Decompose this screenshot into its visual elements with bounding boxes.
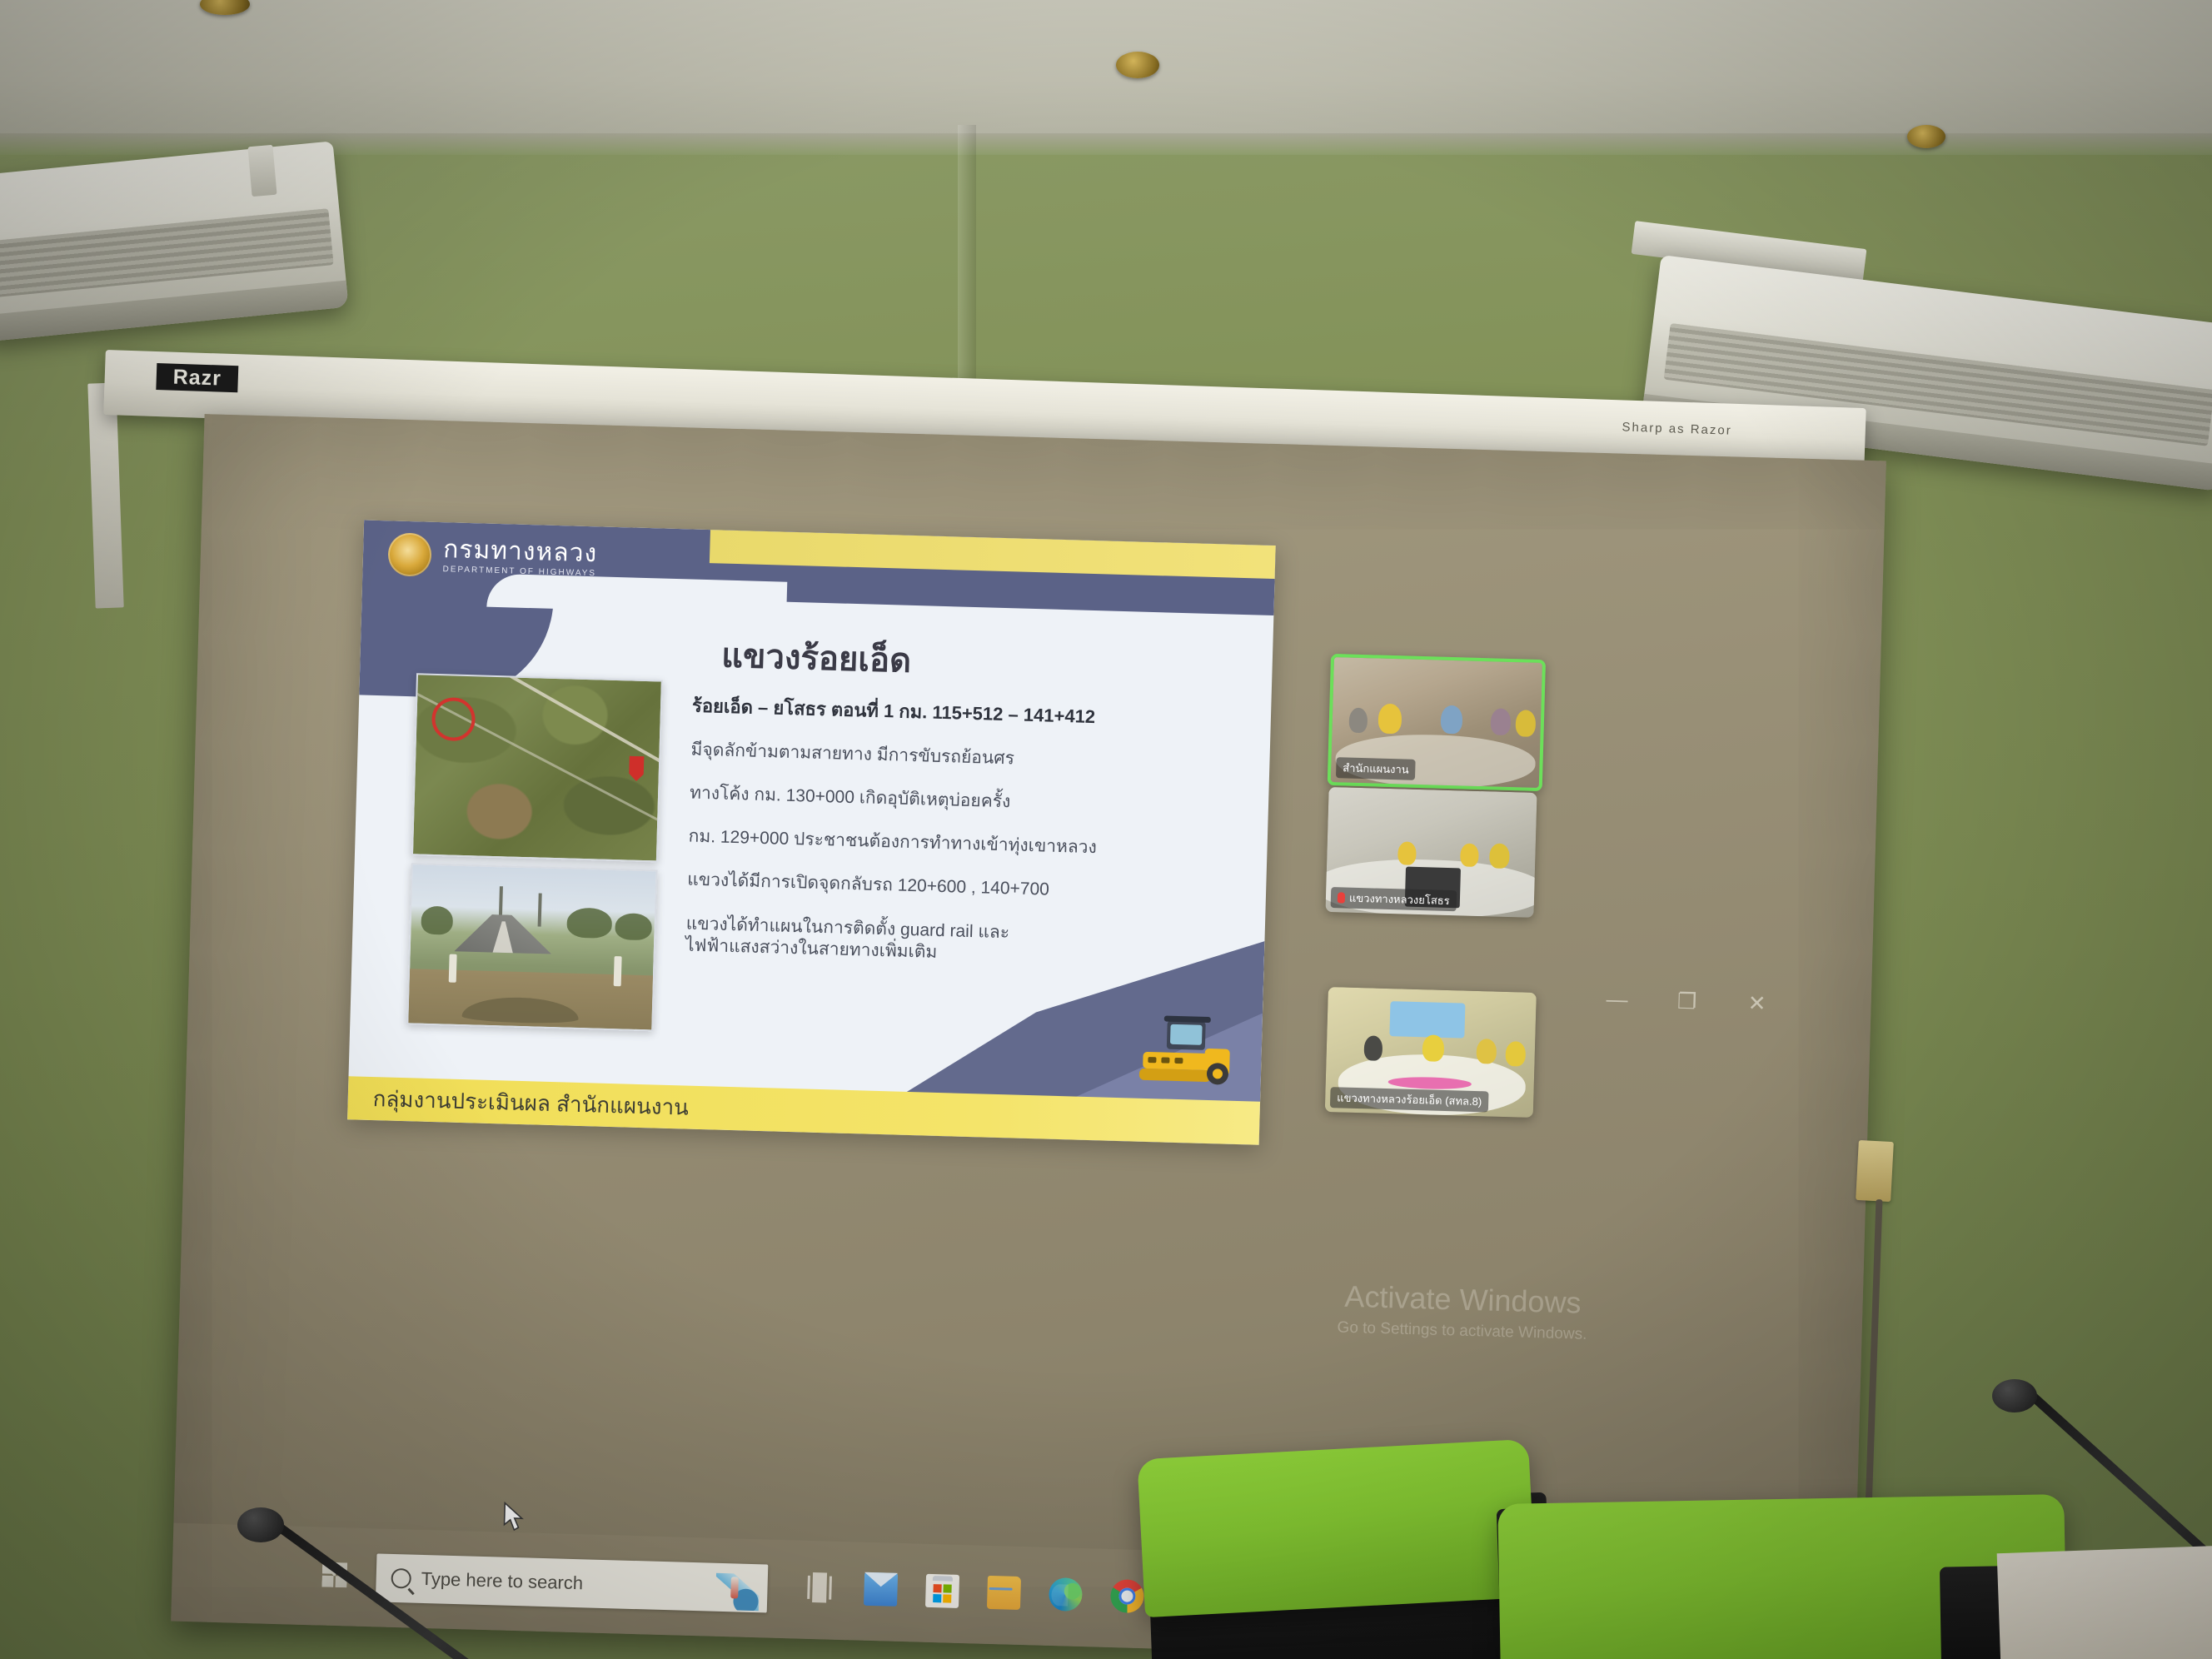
microsoft-store-icon[interactable]: [925, 1574, 959, 1608]
desk-microphone-left: [237, 1499, 487, 1659]
screen-brand-logo: Razr: [156, 363, 238, 392]
activate-windows-watermark: Activate Windows Go to Settings to activ…: [1245, 1276, 1680, 1346]
participant-silhouette: [1460, 843, 1479, 867]
satellite-map-photo: [411, 673, 663, 862]
body-line: แขวงได้ทำแผนในการติดตั้ง guard rail และ …: [685, 913, 1219, 971]
body-line: ทางโค้ง กม. 130+000 เกิดอุบัติเหตุบ่อยคร…: [690, 782, 1223, 819]
projected-desktop: — ❐ ✕ กรมทางหลวง DEPARTMENT OF HIGHWAYS: [171, 414, 1886, 1659]
roadway-site-photo: [406, 863, 657, 1031]
video-participant-panel: สำนักแผนงาน แขวงทางหลวงยโส: [1315, 654, 1547, 1243]
ocean-wave-icon: [715, 1573, 760, 1611]
projection-screen-surface: — ❐ ✕ กรมทางหลวง DEPARTMENT OF HIGHWAYS: [171, 414, 1886, 1659]
presentation-slide[interactable]: กรมทางหลวง DEPARTMENT OF HIGHWAYS แขวงร้…: [347, 520, 1276, 1144]
logo-english-text: DEPARTMENT OF HIGHWAYS: [442, 565, 596, 578]
wall-seam: [958, 125, 976, 400]
air-conditioner-left: [0, 141, 349, 341]
ac-grille: [0, 208, 333, 297]
guard-post: [614, 956, 622, 986]
ac-bracket: [247, 145, 276, 197]
edge-icon[interactable]: [1049, 1577, 1083, 1612]
logo-thai-text: กรมทางหลวง: [443, 537, 598, 566]
slide-footer-text: กลุ่มงานประเมินผล สำนักแผนงาน: [372, 1082, 689, 1125]
foreground-table: [1997, 1545, 2212, 1659]
mouse-cursor: [502, 1502, 525, 1534]
video-tile-label: แขวงทางหลวงร้อยเอ็ด (สทล.8): [1330, 1087, 1489, 1112]
watermark-title: Activate Windows: [1246, 1276, 1680, 1323]
department-logo: กรมทางหลวง DEPARTMENT OF HIGHWAYS: [387, 532, 597, 581]
body-line: มีจุดลักข้ามตามสายทาง มีการขับรถย้อนศร: [690, 739, 1223, 775]
window-controls[interactable]: — ❐ ✕: [1604, 986, 1770, 1017]
backdrop-banner: [1389, 1001, 1465, 1038]
mic-capsule: [237, 1507, 284, 1542]
slide-body-text: ร้อยเอ็ด – ยโสธร ตอนที่ 1 กม. 115+512 – …: [685, 695, 1225, 994]
room-ceiling: [0, 0, 2212, 146]
participant-silhouette: [1490, 708, 1511, 735]
department-seal-icon: [387, 532, 431, 576]
minimize-button[interactable]: —: [1604, 986, 1630, 1013]
chair-back-left: [1137, 1439, 1536, 1617]
video-tile-label: สำนักแผนงาน: [1336, 757, 1416, 780]
task-view-icon[interactable]: [802, 1571, 836, 1605]
participant-silhouette: [1515, 710, 1536, 737]
ceiling-light-fixture: [1907, 125, 1945, 148]
body-line: ร้อยเอ็ด – ยโสธร ตอนที่ 1 กม. 115+512 – …: [692, 695, 1226, 732]
utility-pole: [537, 894, 541, 927]
road-roller-icon: [1131, 1009, 1242, 1089]
file-explorer-icon[interactable]: [987, 1576, 1021, 1610]
participant-silhouette: [1489, 843, 1510, 869]
participant-silhouette: [1441, 705, 1463, 735]
restore-button[interactable]: ❐: [1674, 989, 1700, 1015]
mail-icon[interactable]: [864, 1572, 898, 1607]
participant-silhouette: [1505, 1041, 1526, 1067]
ceiling-light-fixture: [1116, 52, 1159, 78]
video-tile-label: แขวงทางหลวงยโสธร: [1331, 887, 1457, 911]
body-line: กม. 129+000 ประชาชนต้องการทำทางเข้าทุ่งเ…: [688, 826, 1221, 863]
screen-tagline: Sharp as Razor: [1622, 420, 1732, 437]
participant-silhouette: [1397, 841, 1417, 865]
guard-post: [448, 954, 456, 983]
chrome-icon[interactable]: [1110, 1579, 1144, 1613]
mic-muted-icon: [1338, 892, 1345, 903]
map-highlight-circle: [431, 697, 475, 741]
screenshot-root: Razr Sharp as Razor — ❐ ✕ กรมทางหลวง: [0, 0, 2212, 1659]
body-line: แขวงได้มีการเปิดจุดกลับรถ 120+600 , 140+…: [687, 869, 1220, 906]
video-tile-3[interactable]: แขวงทางหลวงร้อยเอ็ด (สทล.8): [1325, 987, 1537, 1118]
participant-silhouette: [1422, 1034, 1445, 1062]
roadside-tree: [421, 906, 453, 935]
close-button[interactable]: ✕: [1744, 990, 1770, 1017]
video-tile-2[interactable]: แขวงทางหลวงยโสธร: [1325, 787, 1537, 918]
map-marker-icon: [629, 756, 645, 781]
participant-silhouette: [1476, 1039, 1497, 1064]
participant-silhouette: [1348, 708, 1368, 734]
video-tile-1[interactable]: สำนักแผนงาน: [1328, 654, 1546, 791]
participant-silhouette: [1364, 1035, 1383, 1061]
roadside-tree: [615, 913, 652, 940]
wall-outlet-plate: [1856, 1140, 1894, 1202]
mic-capsule: [1992, 1379, 2037, 1412]
roadside-tree: [566, 907, 612, 938]
participant-silhouette: [1378, 704, 1402, 735]
